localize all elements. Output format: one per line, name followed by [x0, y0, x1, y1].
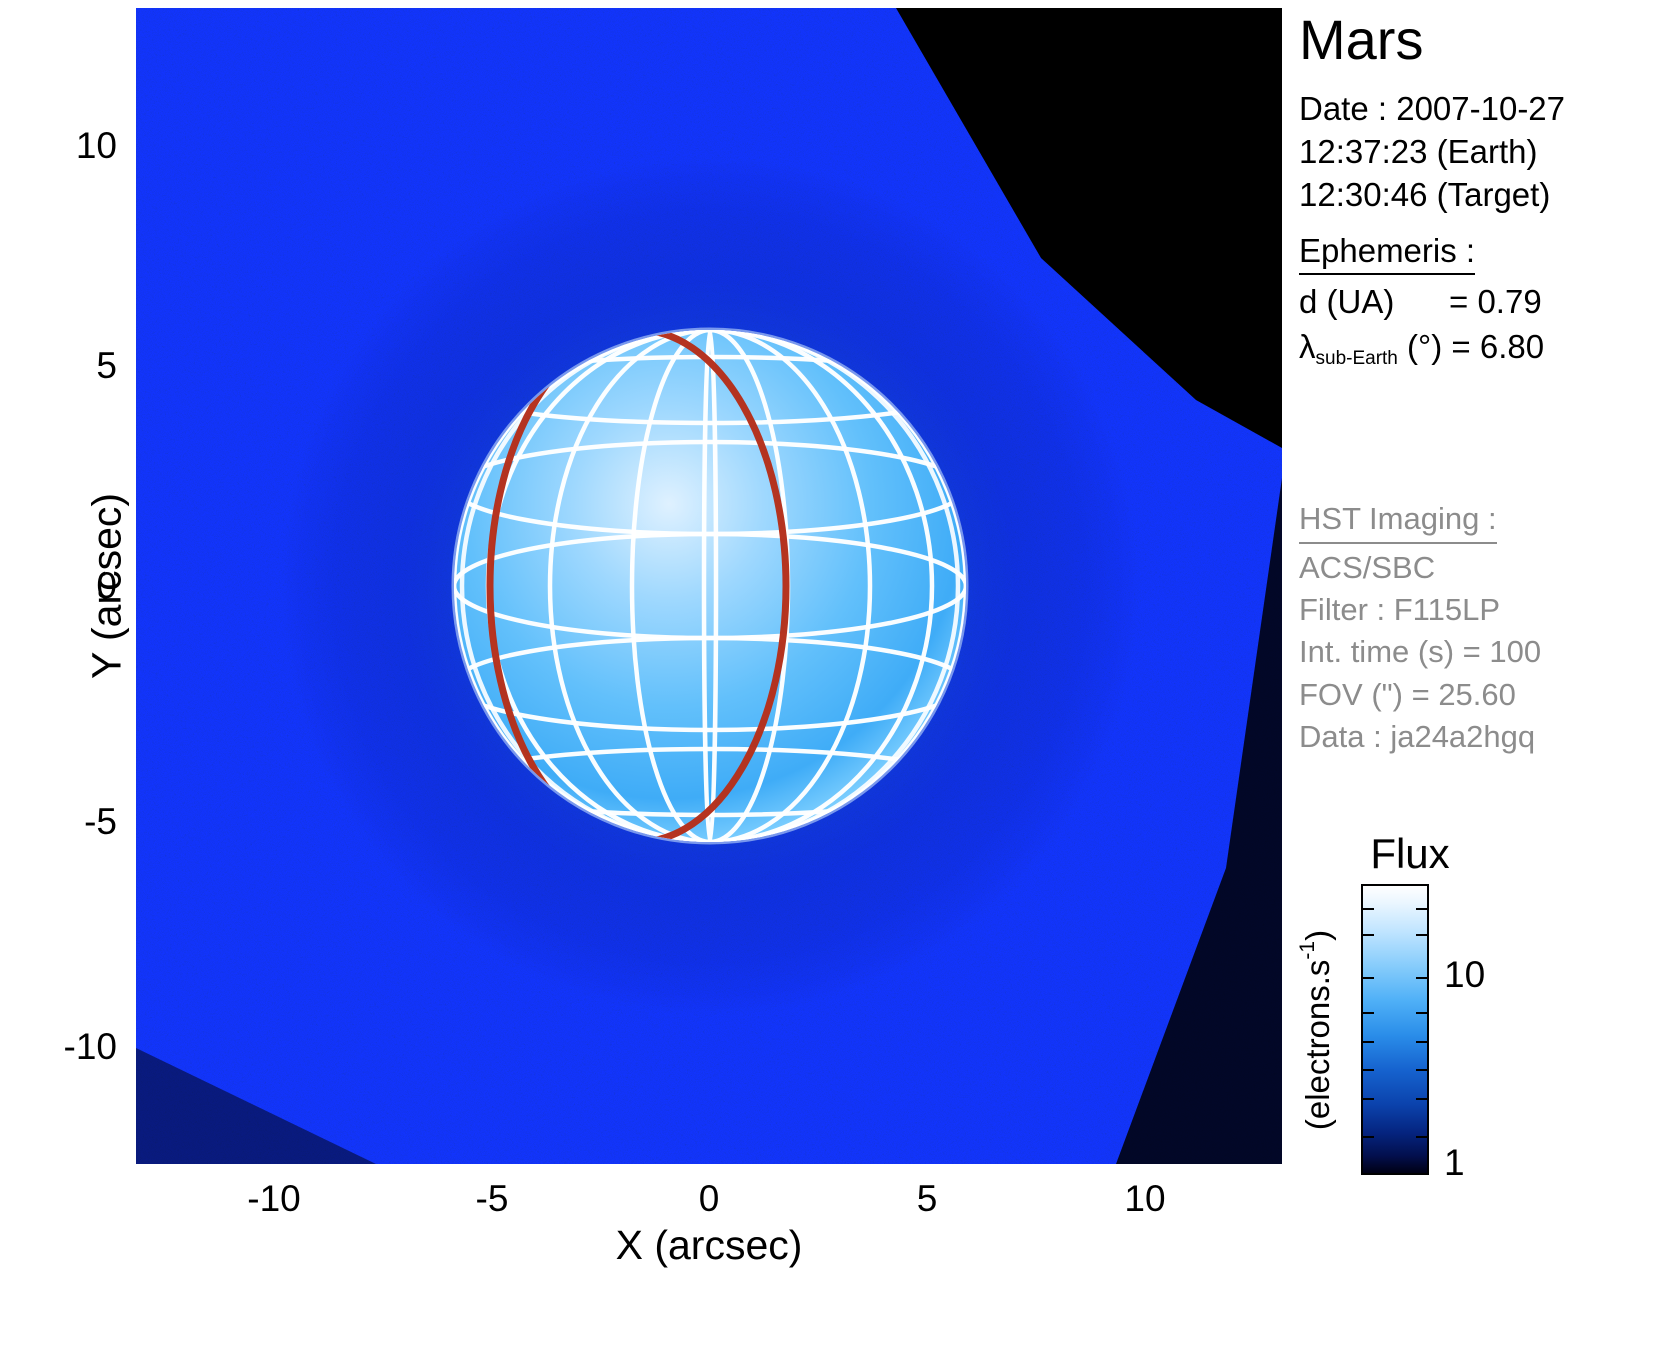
ephemeris-unit: (°)	[1407, 328, 1442, 365]
colorbar-unit-close: )	[1299, 930, 1336, 941]
colorbar-tick-label-high: 10	[1444, 954, 1485, 996]
instrument-dataset-id: Data : ja24a2hgq	[1299, 716, 1541, 758]
y-tick-label: 10	[55, 125, 117, 167]
image-plot-panel	[136, 8, 1282, 1164]
ephemeris-key: d (UA)	[1299, 280, 1449, 325]
ephemeris-value: = 6.80	[1451, 328, 1544, 365]
target-title: Mars	[1299, 12, 1423, 68]
y-tick-label: -5	[48, 801, 117, 843]
ephemeris-rows: d (UA)= 0.79 λsub-Earth (°) = 6.80	[1299, 280, 1544, 369]
ephemeris-value: = 0.79	[1449, 283, 1542, 320]
ephemeris-row-sub-earth-longitude: λsub-Earth (°) = 6.80	[1299, 325, 1544, 370]
graticule-layer	[136, 8, 1282, 1164]
instrument-int-time: Int. time (s) = 100	[1299, 631, 1541, 673]
colorbar-unit-text: (electrons.s	[1299, 960, 1336, 1131]
colorbar-unit-label: (electrons.s-1)	[1299, 930, 1337, 1130]
x-tick-label: 10	[1124, 1178, 1165, 1220]
ephemeris-row-distance: d (UA)= 0.79	[1299, 280, 1544, 325]
colorbar-title: Flux	[1370, 830, 1449, 878]
lambda-subscript: sub-Earth	[1316, 348, 1398, 369]
instrument-block: HST Imaging : ACS/SBC Filter : F115LP In…	[1299, 498, 1541, 758]
lambda-symbol: λ	[1299, 328, 1316, 365]
x-tick-label: -10	[247, 1178, 300, 1220]
y-tick-label: 5	[55, 345, 117, 387]
observation-time-block: Date : 2007-10-27 12:37:23 (Earth) 12:30…	[1299, 88, 1565, 217]
observation-time-target: 12:30:46 (Target)	[1299, 174, 1565, 217]
x-tick-label: 0	[699, 1178, 720, 1220]
observation-time-earth: 12:37:23 (Earth)	[1299, 131, 1565, 174]
y-axis-title: Y (arcsec)	[84, 493, 131, 679]
y-tick-label: -10	[38, 1026, 117, 1068]
x-tick-label: -5	[476, 1178, 509, 1220]
colorbar-unit-exponent: -1	[1296, 941, 1319, 960]
colorbar-gradient	[1361, 884, 1429, 1175]
instrument-heading: HST Imaging :	[1299, 498, 1497, 544]
instrument-filter: Filter : F115LP	[1299, 589, 1541, 631]
x-tick-label: 5	[917, 1178, 938, 1220]
x-axis-title: X (arcsec)	[616, 1222, 803, 1269]
ephemeris-heading: Ephemeris :	[1299, 232, 1475, 275]
colorbar-tick-label-low: 1	[1444, 1142, 1465, 1184]
instrument-fov: FOV (") = 25.60	[1299, 674, 1541, 716]
instrument-detector: ACS/SBC	[1299, 547, 1541, 589]
observation-date: Date : 2007-10-27	[1299, 88, 1565, 131]
metadata-panel: Mars Date : 2007-10-27 12:37:23 (Earth) …	[1299, 0, 1677, 1367]
